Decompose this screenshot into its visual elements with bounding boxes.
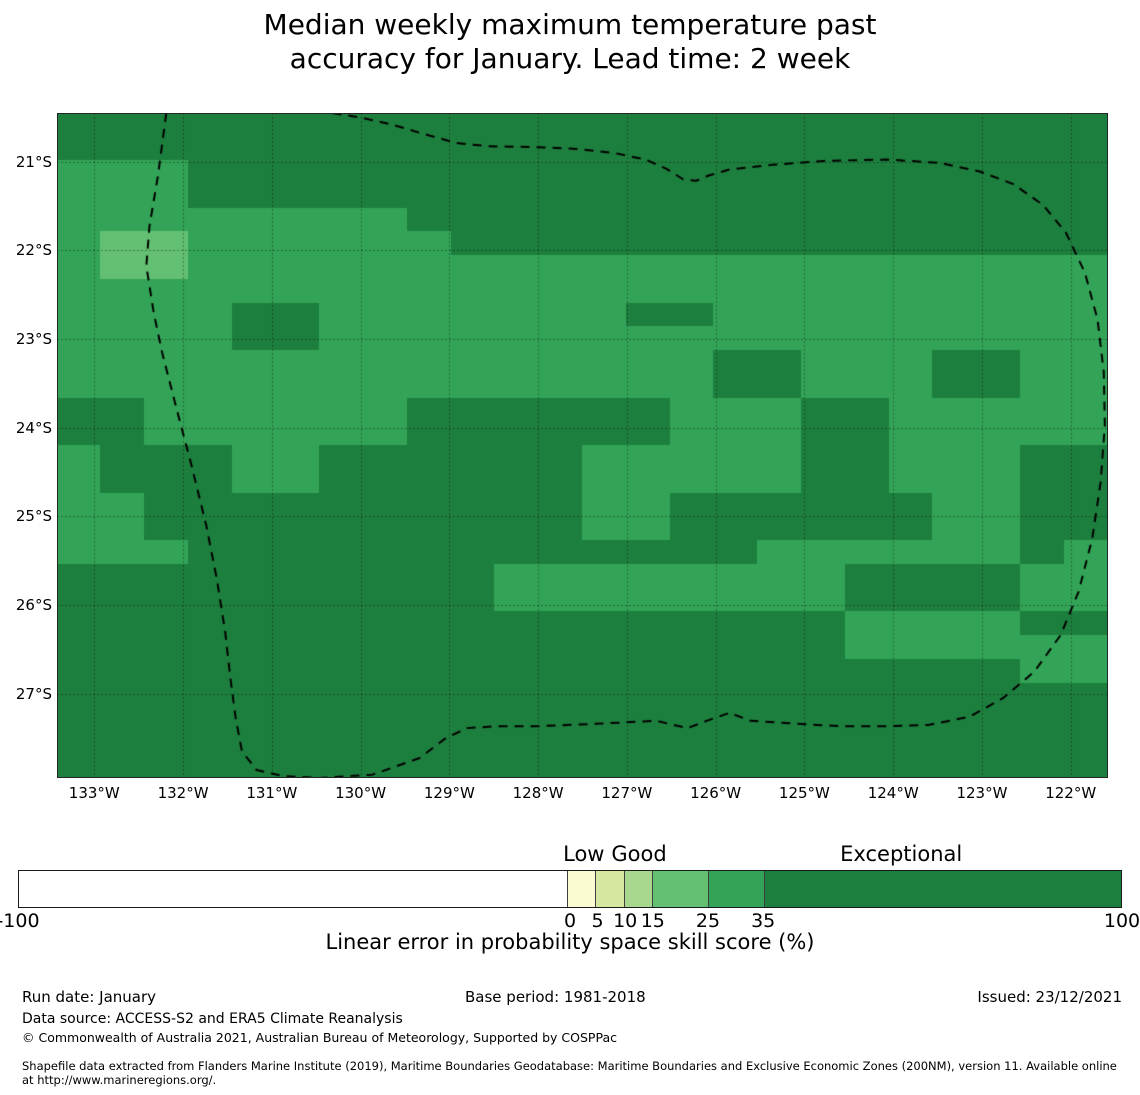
data-source-text: Data source: ACCESS-S2 and ERA5 Climate … bbox=[22, 1011, 1122, 1027]
x-tick-label-128W: 128°W bbox=[498, 784, 578, 802]
colorbar-bands[interactable] bbox=[18, 870, 1122, 908]
issued-date-text: Issued: 23/12/2021 bbox=[977, 988, 1122, 1006]
colorbar-band-2[interactable] bbox=[595, 871, 623, 907]
x-tick-label-131W: 131°W bbox=[232, 784, 312, 802]
base-period-text: Base period: 1981-2018 bbox=[465, 988, 646, 1006]
colorbar[interactable] bbox=[18, 870, 1122, 908]
colorbar-band-5[interactable] bbox=[708, 871, 764, 907]
y-tick-label-22S: 22°S bbox=[0, 241, 52, 259]
y-tick-label-25S: 25°S bbox=[0, 507, 52, 525]
footer-row-dates: Run date: January Base period: 1981-2018… bbox=[22, 988, 1122, 1009]
colorbar-category-good: Good bbox=[509, 842, 769, 866]
title-line-1: Median weekly maximum temperature past bbox=[0, 8, 1140, 42]
skill-score-map[interactable] bbox=[57, 113, 1108, 778]
y-tick-label-23S: 23°S bbox=[0, 330, 52, 348]
x-tick-label-122W: 122°W bbox=[1031, 784, 1111, 802]
colorbar-band-6[interactable] bbox=[764, 871, 1121, 907]
colorbar-band-3[interactable] bbox=[624, 871, 652, 907]
x-tick-label-125W: 125°W bbox=[764, 784, 844, 802]
x-tick-label-127W: 127°W bbox=[587, 784, 667, 802]
page-title: Median weekly maximum temperature past a… bbox=[0, 8, 1140, 76]
colorbar-band-4[interactable] bbox=[652, 871, 708, 907]
title-line-2: accuracy for January. Lead time: 2 week bbox=[0, 42, 1140, 76]
colorbar-category-exceptional: Exceptional bbox=[771, 842, 1031, 866]
colorbar-tick-35: 35 bbox=[718, 910, 808, 932]
heatmap-canvas[interactable] bbox=[57, 113, 1108, 778]
colorbar-band-0[interactable] bbox=[19, 871, 567, 907]
footer: Run date: January Base period: 1981-2018… bbox=[22, 988, 1122, 1087]
x-tick-label-129W: 129°W bbox=[409, 784, 489, 802]
run-date-text: Run date: January bbox=[22, 988, 156, 1006]
y-tick-label-21S: 21°S bbox=[0, 153, 52, 171]
x-tick-label-130W: 130°W bbox=[321, 784, 401, 802]
y-tick-label-24S: 24°S bbox=[0, 419, 52, 437]
x-tick-label-133W: 133°W bbox=[54, 784, 134, 802]
x-tick-label-132W: 132°W bbox=[143, 784, 223, 802]
y-tick-label-27S: 27°S bbox=[0, 685, 52, 703]
colorbar-band-1[interactable] bbox=[567, 871, 595, 907]
x-tick-label-123W: 123°W bbox=[942, 784, 1022, 802]
colorbar-tick-100: 100 bbox=[1077, 910, 1140, 932]
x-tick-label-126W: 126°W bbox=[676, 784, 756, 802]
colorbar-axis-label: Linear error in probability space skill … bbox=[0, 930, 1140, 954]
x-tick-label-124W: 124°W bbox=[853, 784, 933, 802]
copyright-text: © Commonwealth of Australia 2021, Austra… bbox=[22, 1030, 1122, 1045]
y-tick-label-26S: 26°S bbox=[0, 596, 52, 614]
shapefile-note-text: Shapefile data extracted from Flanders M… bbox=[22, 1059, 1120, 1087]
colorbar-tick-neg100: -100 bbox=[0, 910, 63, 932]
